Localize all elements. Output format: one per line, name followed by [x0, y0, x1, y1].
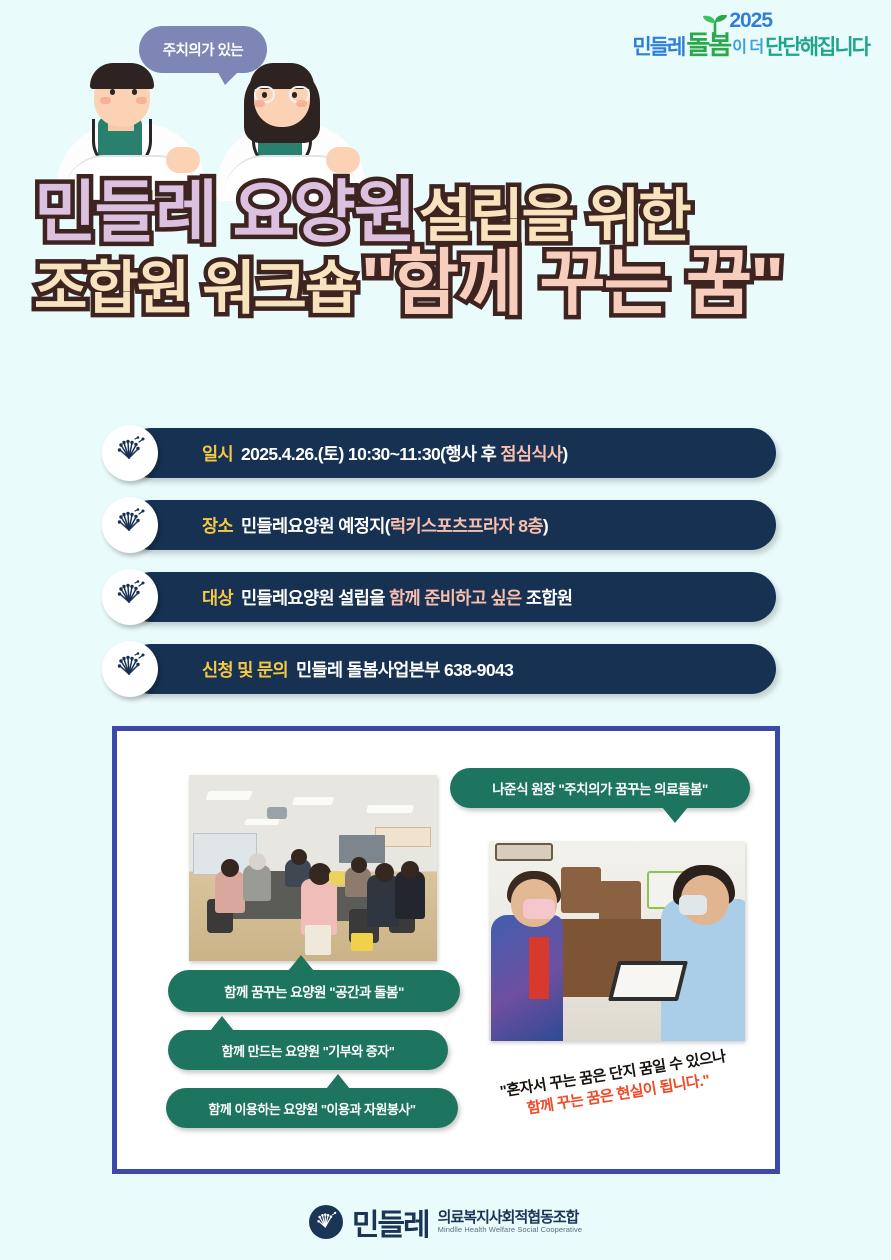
- ceiling-light: [366, 805, 414, 813]
- doctor-hand: [166, 147, 200, 173]
- dandelion-icon: [102, 497, 158, 553]
- footer-org-korean: 의료복지사회적협동조합: [438, 1209, 582, 1226]
- ceiling-light: [292, 797, 335, 805]
- info-bar-audience: 대상민들레요양원 설립을 함께 준비하고 싶은 조합원: [126, 572, 776, 622]
- picture-frame: [495, 843, 553, 861]
- doctor-eye-left: [110, 89, 115, 95]
- clipboard: [608, 961, 688, 1001]
- campaign-word-mindlle: 민들레: [632, 37, 684, 58]
- info-value-highlight: 럭키스포츠프라자 8층: [390, 516, 543, 536]
- patient-shirt: [529, 937, 549, 999]
- footer-org-english: Mindlle Health Welfare Social Cooperativ…: [438, 1226, 582, 1235]
- tote-bag: [305, 925, 331, 955]
- ceiling-light: [244, 819, 280, 825]
- doctor-cheek-right: [296, 100, 307, 107]
- doctor-eye-right: [292, 92, 297, 98]
- campaign-year: 2025: [632, 10, 869, 31]
- footer-org: 의료복지사회적협동조합 Mindlle Health Welfare Socia…: [438, 1209, 582, 1235]
- projector: [267, 807, 287, 819]
- doctor-cheek-right: [136, 97, 147, 104]
- page-title: 민들레 요양원 설립을 위한 조합원 워크숍 "함께 꾸는 꿈": [34, 180, 864, 319]
- speech-bubble-volunteer: 함께 이용하는 요양원 "이용과 자원봉사": [166, 1088, 458, 1128]
- yellow-bag: [351, 933, 373, 951]
- info-value-a: 민들레요양원 설립을: [241, 588, 389, 608]
- attendee: [243, 865, 271, 901]
- speech-bubble-director: 나준식 원장 "주치의가 꿈꾸는 의료돌봄": [450, 768, 750, 808]
- dandelion-icon: [102, 569, 158, 625]
- doctor-eye-right: [132, 89, 137, 95]
- photo-doctor-consultation: [489, 841, 745, 1041]
- info-value-a: 2025.4.26.(토) 10:30~11:30(행사 후: [241, 444, 500, 464]
- photo-workshop-meeting: [189, 775, 437, 961]
- campaign-mark: 2025 민들레 돌봄 이 더 단단해집니다: [632, 10, 869, 58]
- doctor-cheek-left: [254, 100, 265, 107]
- flower-vase: [329, 871, 345, 885]
- speech-bubble-space-care: 함께 꿈꾸는 요양원 "공간과 돌봄": [168, 970, 460, 1012]
- attendee-head: [309, 863, 331, 885]
- info-label: 장소: [202, 516, 233, 536]
- title-word-nursing-home: 민들레 요양원: [34, 180, 414, 247]
- info-label: 신청 및 문의: [202, 660, 288, 680]
- info-value-highlight: 점심식사: [500, 444, 562, 464]
- info-text: 대상민들레요양원 설립을 함께 준비하고 싶은 조합원: [202, 585, 572, 610]
- attendee-head: [401, 861, 419, 879]
- campaign-word-care: 돌봄: [686, 32, 730, 58]
- attendee-head: [221, 859, 239, 877]
- dandelion-icon: [102, 425, 158, 481]
- doctor-hand: [326, 147, 360, 173]
- dandelion-icon: [102, 641, 158, 697]
- info-bar-location: 장소민들레요양원 예정지(럭키스포츠프라자 8층): [126, 500, 776, 550]
- meeting-room-scene: [189, 775, 437, 961]
- attendee-head: [291, 849, 307, 865]
- title-line-2: 조합원 워크숍 "함께 꾸는 꿈": [34, 249, 864, 320]
- doctor-eye-left: [262, 92, 267, 98]
- sprout-icon: [700, 15, 730, 35]
- attendee-head: [375, 863, 394, 882]
- doctor-hair: [90, 63, 154, 89]
- campaign-slogan: 민들레 돌봄 이 더 단단해집니다: [632, 32, 869, 58]
- attendee-head: [249, 853, 266, 870]
- footer-brand: 민들레: [352, 1200, 429, 1244]
- info-text: 장소민들레요양원 예정지(럭키스포츠프라자 8층): [202, 513, 548, 538]
- face-mask: [679, 895, 707, 915]
- info-label: 일시: [202, 444, 233, 464]
- info-label: 대상: [202, 588, 233, 608]
- attendee-head: [351, 857, 367, 873]
- speech-bubble-top: 주치의가 있는: [139, 26, 267, 73]
- title-word-for-founding: 설립을 위한: [419, 189, 690, 246]
- patient-figure: [491, 915, 563, 1041]
- footer-logo: 민들레 의료복지사회적협동조합 Mindlle Health Welfare S…: [0, 1200, 891, 1244]
- info-text: 신청 및 문의민들레 돌봄사업본부 638-9043: [202, 657, 513, 682]
- title-word-shared-dream: "함께 꾸는 꿈": [361, 249, 782, 320]
- info-text: 일시2025.4.26.(토) 10:30~11:30(행사 후 점심식사): [202, 441, 568, 466]
- info-value-a: 민들레 돌봄사업본부 638-9043: [296, 660, 513, 680]
- speech-bubble-donation: 함께 만드는 요양원 "기부와 증자": [168, 1030, 448, 1070]
- dandelion-icon: [309, 1205, 343, 1239]
- campaign-word-connector: 이 더: [732, 40, 763, 58]
- info-value-b: ): [562, 444, 567, 464]
- info-value-highlight: 함께 준비하고 싶은: [389, 588, 522, 608]
- info-value-a: 민들레요양원 예정지(: [241, 516, 390, 536]
- doctor-cheek-left: [100, 97, 111, 104]
- info-value-b: ): [543, 516, 548, 536]
- attendee: [215, 871, 245, 913]
- info-bar-datetime: 일시2025.4.26.(토) 10:30~11:30(행사 후 점심식사): [126, 428, 776, 478]
- face-mask: [523, 899, 555, 919]
- consultation-scene: [489, 841, 745, 1041]
- campaign-word-stronger: 단단해집니다: [765, 37, 869, 58]
- ceiling-light: [205, 791, 253, 800]
- info-value-b: 조합원: [522, 588, 573, 608]
- title-word-workshop: 조합원 워크숍: [34, 261, 356, 318]
- title-line-1: 민들레 요양원 설립을 위한: [34, 180, 864, 247]
- info-bar-list: 일시2025.4.26.(토) 10:30~11:30(행사 후 점심식사): [126, 428, 776, 716]
- wooden-chair: [561, 867, 601, 913]
- info-bar-contact: 신청 및 문의민들레 돌봄사업본부 638-9043: [126, 644, 776, 694]
